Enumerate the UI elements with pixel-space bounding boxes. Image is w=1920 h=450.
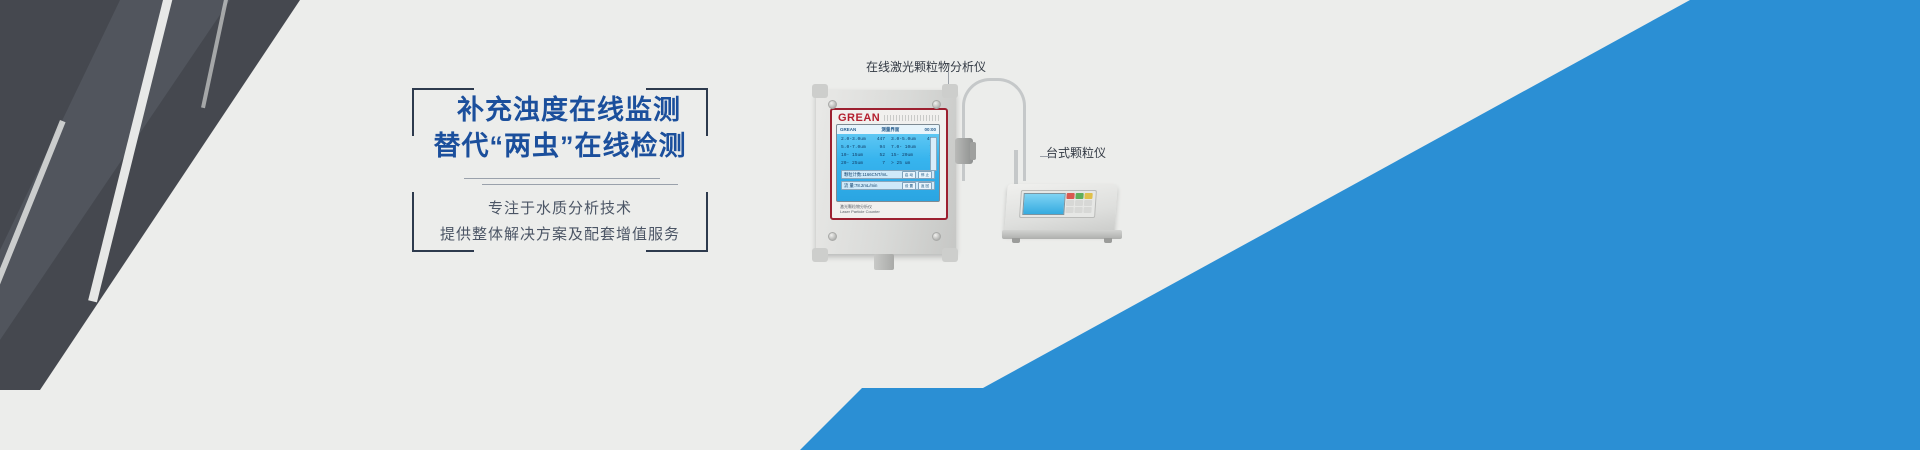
enclosure-mount-lug bbox=[942, 248, 958, 262]
display-button-settings[interactable]: 设 置 bbox=[902, 182, 916, 190]
subtitle-line-1: 专注于水质分析技术 bbox=[412, 196, 708, 222]
display-header-brand: GREAN bbox=[840, 125, 856, 134]
desktop-particle-counter bbox=[1006, 178, 1122, 246]
desktop-control-panel bbox=[1019, 190, 1097, 218]
brand-hatch-pattern bbox=[884, 115, 940, 121]
enclosure-screw bbox=[828, 100, 837, 109]
keypad-key[interactable] bbox=[1083, 207, 1091, 213]
headline-line-1: 补充浊度在线监测 bbox=[412, 92, 708, 128]
headline-divider-upper bbox=[464, 178, 660, 179]
flow-rate-value: 流 量:78.2mL/min bbox=[844, 183, 900, 189]
size-range-a: 10- 15um bbox=[841, 152, 869, 160]
keypad-key[interactable] bbox=[1084, 193, 1092, 199]
table-row: 2.0-3.0um 447 3.0-5.0um 454 bbox=[841, 136, 935, 144]
table-row: 10- 15um 52 15- 20um 35 bbox=[841, 152, 935, 160]
keypad-key[interactable] bbox=[1074, 207, 1082, 213]
display-button-back[interactable]: 返 回 bbox=[918, 182, 932, 190]
bottom-cable-connector bbox=[874, 254, 894, 270]
keypad-key[interactable] bbox=[1075, 200, 1083, 206]
headline-divider-lower bbox=[482, 184, 678, 185]
size-range-b: > 25 um bbox=[887, 160, 919, 168]
enclosure-screw bbox=[828, 232, 837, 241]
particle-count-value: 颗粒计数:1166CNT/mL bbox=[844, 172, 900, 178]
desktop-leader-line bbox=[1040, 156, 1052, 157]
display-button-start[interactable]: 启 动 bbox=[902, 171, 916, 179]
display-header-time: 00:00 bbox=[924, 125, 936, 134]
keypad-key[interactable] bbox=[1075, 193, 1083, 199]
display-scrollbar[interactable] bbox=[930, 137, 937, 171]
analyzer-display[interactable]: GREAN 测量界面 00:00 2.0-3.0um 447 3.0-5.0um… bbox=[836, 124, 940, 202]
flow-rate-status-bar: 流 量:78.2mL/min 设 置 返 回 bbox=[841, 181, 935, 190]
desktop-foot bbox=[1104, 238, 1112, 243]
keypad-key[interactable] bbox=[1066, 200, 1074, 206]
display-header: GREAN 测量界面 00:00 bbox=[837, 125, 939, 134]
count-a: 447 bbox=[871, 136, 885, 144]
table-row: 5.0-7.0um 94 7.0- 10um 76 bbox=[841, 144, 935, 152]
size-range-b: 3.0-5.0um bbox=[887, 136, 919, 144]
particle-count-status-bar: 颗粒计数:1166CNT/mL 启 动 停 止 bbox=[841, 170, 935, 179]
size-range-b: 15- 20um bbox=[887, 152, 919, 160]
brand-logo: GREAN bbox=[838, 112, 880, 124]
table-row: 20- 25um 7 > 25 um 1 bbox=[841, 160, 935, 168]
size-range-a: 20- 25um bbox=[841, 160, 869, 168]
count-a: 7 bbox=[871, 160, 885, 168]
enclosure-mount-lug bbox=[812, 84, 828, 98]
count-a: 94 bbox=[871, 144, 885, 152]
count-a: 52 bbox=[871, 152, 885, 160]
enclosure-screw bbox=[932, 100, 941, 109]
side-sensor-port-ring bbox=[970, 142, 976, 160]
device-model-label-en: Laser Particle Counter bbox=[840, 209, 880, 214]
keypad-key[interactable] bbox=[1065, 207, 1073, 213]
subtitle-line-2: 提供整体解决方案及配套增值服务 bbox=[412, 222, 708, 248]
desktop-keypad[interactable] bbox=[1065, 193, 1092, 213]
device-model-label: 激光颗粒物分析仪 Laser Particle Counter bbox=[840, 204, 880, 214]
desktop-display[interactable] bbox=[1022, 193, 1066, 215]
enclosure-screw bbox=[932, 232, 941, 241]
display-button-stop[interactable]: 停 止 bbox=[918, 171, 932, 179]
online-laser-particle-analyzer: GREAN GREAN 测量界面 00:00 2.0-3.0um 447 3.0… bbox=[812, 82, 960, 262]
size-range-a: 2.0-3.0um bbox=[841, 136, 869, 144]
size-range-b: 7.0- 10um bbox=[887, 144, 919, 152]
particle-count-table: 2.0-3.0um 447 3.0-5.0um 454 5.0-7.0um 94… bbox=[837, 134, 939, 168]
display-header-title: 测量界面 bbox=[881, 125, 899, 134]
enclosure-mount-lug bbox=[812, 248, 828, 262]
subtitle-text: 专注于水质分析技术 提供整体解决方案及配套增值服务 bbox=[412, 196, 708, 248]
analyzer-product-label: 在线激光颗粒物分析仪 bbox=[866, 58, 986, 75]
desktop-product-label: 台式颗粒仪 bbox=[1046, 144, 1106, 161]
keypad-key[interactable] bbox=[1084, 200, 1092, 206]
size-range-a: 5.0-7.0um bbox=[841, 144, 869, 152]
headline-block: 补充浊度在线监测 替代“两虫”在线检测 专注于水质分析技术 提供整体解决方案及配… bbox=[412, 88, 708, 252]
headline-text: 补充浊度在线监测 替代“两虫”在线检测 bbox=[412, 92, 708, 164]
hero-banner: 补充浊度在线监测 替代“两虫”在线检测 专注于水质分析技术 提供整体解决方案及配… bbox=[0, 0, 1920, 450]
keypad-key[interactable] bbox=[1066, 193, 1074, 199]
desktop-foot bbox=[1012, 238, 1020, 243]
enclosure-mount-lug bbox=[942, 84, 958, 98]
headline-line-2: 替代“两虫”在线检测 bbox=[412, 128, 708, 164]
